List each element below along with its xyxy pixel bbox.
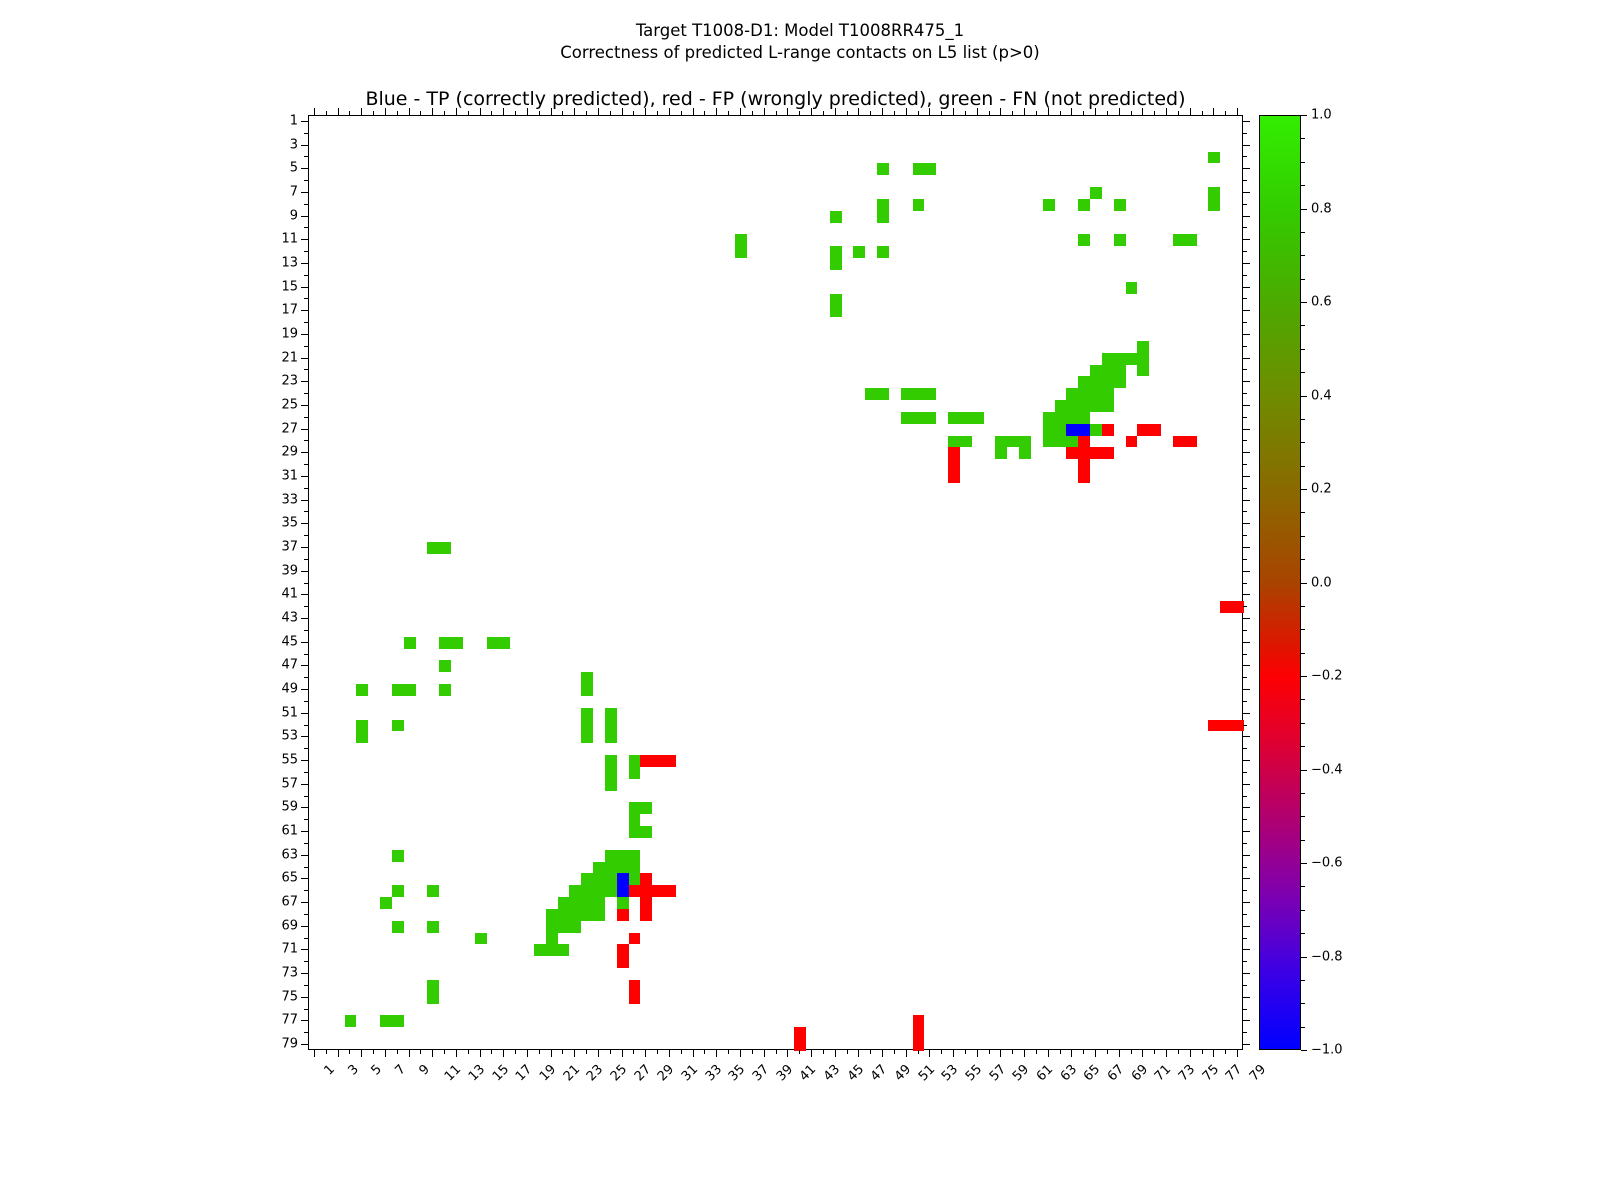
y-axis-tick-right: [1243, 665, 1250, 666]
colorbar-minor-tick: [1301, 840, 1305, 841]
y-axis-tick-right: [1243, 713, 1250, 714]
contact-cell-fp: [1102, 447, 1114, 459]
contact-cell-fn: [605, 708, 617, 720]
contact-cell-fn: [830, 258, 842, 270]
y-axis-tick-right: [1243, 476, 1250, 477]
x-axis-tick-top: [1095, 108, 1096, 115]
contact-cell-fn: [1090, 365, 1102, 377]
contact-cell-fn: [1102, 353, 1114, 365]
x-axis-tick-top: [326, 111, 327, 115]
y-axis-label: 65: [250, 871, 298, 886]
y-axis-label: 57: [250, 776, 298, 791]
contact-cell-fn: [427, 992, 439, 1004]
contact-cell-fp: [629, 980, 641, 992]
x-axis-tick-top: [385, 108, 386, 115]
x-axis-label: 35: [726, 1062, 748, 1084]
x-axis-tick: [953, 1050, 954, 1057]
contact-cell-fn: [1090, 187, 1102, 199]
y-axis-tick: [304, 227, 308, 228]
contact-cell-fn: [735, 234, 747, 246]
y-axis-label: 17: [250, 303, 298, 318]
x-axis-tick-top: [704, 111, 705, 115]
x-axis-tick-top: [657, 111, 658, 115]
x-axis-label: 41: [797, 1062, 819, 1084]
contact-cell-fn: [1019, 436, 1031, 448]
contact-cell-fp: [1090, 447, 1102, 459]
contact-cell-fn: [1078, 388, 1090, 400]
contact-cell-fn: [1090, 400, 1102, 412]
x-axis-label: 27: [631, 1062, 653, 1084]
contact-cell-fn: [995, 436, 1007, 448]
x-axis-tick: [704, 1050, 705, 1054]
x-axis-tick-top: [716, 108, 717, 115]
x-axis-tick-top: [1142, 108, 1143, 115]
y-axis-tick: [304, 369, 308, 370]
contact-cell-fn: [427, 542, 439, 554]
colorbar-tick-label: 0.6: [1311, 295, 1332, 310]
y-axis-tick: [304, 535, 308, 536]
y-axis-tick-right: [1243, 878, 1250, 879]
y-axis-tick-right: [1243, 511, 1247, 512]
y-axis-tick-right: [1243, 654, 1247, 655]
contact-cell-fn: [558, 897, 570, 909]
x-axis-tick: [764, 1050, 765, 1057]
contact-cell-fn: [960, 412, 972, 424]
y-axis-tick: [301, 1044, 308, 1045]
y-axis-tick: [301, 926, 308, 927]
x-axis-label: 75: [1200, 1062, 1222, 1084]
y-axis-tick: [304, 583, 308, 584]
contact-cell-fn: [617, 850, 629, 862]
contact-cell-fn: [877, 199, 889, 211]
y-axis-tick: [304, 440, 308, 441]
y-axis-tick: [301, 831, 308, 832]
x-axis-label: 11: [442, 1062, 464, 1084]
contact-cell-fn: [901, 388, 913, 400]
x-axis-tick-top: [693, 108, 694, 115]
y-axis-label: 31: [250, 468, 298, 483]
y-axis-tick-right: [1243, 310, 1250, 311]
contact-cell-fn: [1066, 412, 1078, 424]
x-axis-tick: [929, 1050, 930, 1057]
y-axis-label: 67: [250, 895, 298, 910]
x-axis-label: 25: [608, 1062, 630, 1084]
x-axis-tick-top: [787, 108, 788, 115]
x-axis-tick: [314, 1050, 315, 1057]
y-axis-tick: [301, 855, 308, 856]
contact-cell-fn: [830, 294, 842, 306]
colorbar-minor-tick: [1301, 933, 1305, 934]
contact-cell-fn: [345, 1015, 357, 1027]
contact-cell-fp: [1208, 720, 1220, 732]
colorbar-minor-tick: [1301, 466, 1305, 467]
contact-cell-fn: [1043, 436, 1055, 448]
y-axis-tick-right: [1243, 251, 1247, 252]
contact-cell-fn: [1078, 412, 1090, 424]
y-axis-tick: [304, 772, 308, 773]
contact-cell-fn: [427, 921, 439, 933]
contact-cell-fn: [877, 163, 889, 175]
x-axis-tick-top: [633, 111, 634, 115]
x-axis-label: 47: [868, 1062, 890, 1084]
x-axis-tick-top: [1107, 111, 1108, 115]
x-axis-tick-top: [728, 111, 729, 115]
x-axis-tick-top: [882, 108, 883, 115]
contact-cell-fn: [581, 684, 593, 696]
y-axis-tick: [301, 263, 308, 264]
contact-cell-fp: [640, 897, 652, 909]
x-axis-label: 55: [963, 1062, 985, 1084]
colorbar-minor-tick: [1301, 279, 1305, 280]
contact-cell-fn: [617, 862, 629, 874]
y-axis-label: 51: [250, 705, 298, 720]
x-axis-tick: [491, 1050, 492, 1054]
contact-cell-fn: [1055, 424, 1067, 436]
y-axis-tick: [304, 961, 308, 962]
contact-cell-fn: [356, 731, 368, 743]
y-axis-tick-right: [1243, 606, 1247, 607]
contact-cell-fn: [439, 637, 451, 649]
y-axis-tick-right: [1243, 890, 1247, 891]
y-axis-tick: [301, 689, 308, 690]
y-axis-tick-right: [1243, 239, 1250, 240]
y-axis-tick-right: [1243, 405, 1250, 406]
y-axis-tick-right: [1243, 736, 1250, 737]
contact-cell-fn: [1208, 199, 1220, 211]
colorbar-tick: [1301, 209, 1307, 210]
colorbar-minor-tick: [1301, 886, 1305, 887]
x-axis-tick: [1213, 1050, 1214, 1057]
contact-cell-fn: [392, 1015, 404, 1027]
contact-cell-fn: [995, 447, 1007, 459]
y-axis-tick: [301, 168, 308, 169]
colorbar-minor-tick: [1301, 699, 1305, 700]
x-axis-tick: [1060, 1050, 1061, 1054]
colorbar-tick-label: 0.4: [1311, 388, 1332, 403]
colorbar-minor-tick: [1301, 185, 1305, 186]
y-axis-tick-right: [1243, 1009, 1247, 1010]
x-axis-tick-top: [1213, 108, 1214, 115]
y-axis-tick-right: [1243, 689, 1250, 690]
contact-cell-fn: [877, 211, 889, 223]
contact-cell-fn: [581, 873, 593, 885]
colorbar-minor-tick: [1301, 349, 1305, 350]
contact-cell-fp: [640, 873, 652, 885]
x-axis-tick: [752, 1050, 753, 1054]
colorbar-minor-tick: [1301, 536, 1305, 537]
contact-cell-fn: [1090, 424, 1102, 436]
x-axis-tick: [858, 1050, 859, 1057]
y-axis-tick: [301, 713, 308, 714]
y-axis-tick-right: [1243, 369, 1247, 370]
contact-cell-fp: [1078, 447, 1090, 459]
y-axis-tick: [301, 571, 308, 572]
x-axis-tick: [728, 1050, 729, 1054]
y-axis-tick: [301, 949, 308, 950]
x-axis-tick-top: [1071, 108, 1072, 115]
y-axis-tick-right: [1243, 677, 1247, 678]
contact-cell-fp: [1232, 601, 1244, 613]
x-axis-tick: [373, 1050, 374, 1054]
contact-cell-fn: [629, 755, 641, 767]
contact-cell-fp: [1102, 424, 1114, 436]
x-axis-tick-top: [823, 111, 824, 115]
x-axis-tick: [338, 1050, 339, 1057]
contact-cell-fn: [593, 909, 605, 921]
y-axis-tick: [304, 275, 308, 276]
x-axis-tick: [1048, 1050, 1049, 1057]
y-axis-label: 37: [250, 539, 298, 554]
y-axis-tick: [304, 914, 308, 915]
y-axis-label: 53: [250, 729, 298, 744]
y-axis-tick: [304, 748, 308, 749]
y-axis-label: 79: [250, 1037, 298, 1052]
x-axis-tick-top: [432, 108, 433, 115]
x-axis-label: 51: [916, 1062, 938, 1084]
x-axis-tick: [539, 1050, 540, 1054]
y-axis-tick-right: [1243, 642, 1250, 643]
contact-cell-fn: [581, 897, 593, 909]
colorbar-minor-tick: [1301, 746, 1305, 747]
colorbar-minor-tick: [1301, 138, 1305, 139]
x-axis-tick-top: [953, 108, 954, 115]
y-axis-tick: [301, 760, 308, 761]
colorbar-minor-tick: [1301, 980, 1305, 981]
y-axis-tick-right: [1243, 523, 1250, 524]
y-axis-label: 41: [250, 587, 298, 602]
contact-cell-fn: [1114, 365, 1126, 377]
y-axis-tick: [301, 618, 308, 619]
x-axis-tick: [669, 1050, 670, 1057]
y-axis-label: 5: [250, 161, 298, 176]
legend-annotation-text: Blue - TP (correctly predicted), red - F…: [308, 88, 1243, 110]
y-axis-tick-right: [1243, 807, 1250, 808]
x-axis-label: 17: [513, 1062, 535, 1084]
y-axis-tick: [304, 559, 308, 560]
contact-cell-fn: [1090, 388, 1102, 400]
colorbar-minor-tick: [1301, 910, 1305, 911]
colorbar-minor-tick: [1301, 559, 1305, 560]
x-axis-tick: [906, 1050, 907, 1057]
y-axis-tick: [301, 192, 308, 193]
y-axis-tick: [304, 133, 308, 134]
contact-cell-fn: [605, 779, 617, 791]
contact-cell-fn: [960, 436, 972, 448]
y-axis-label: 55: [250, 753, 298, 768]
y-axis-label: 35: [250, 516, 298, 531]
y-axis-tick: [301, 429, 308, 430]
y-axis-tick: [301, 594, 308, 595]
y-axis-label: 69: [250, 918, 298, 933]
x-axis-tick-top: [740, 108, 741, 115]
colorbar-tick-label: 0.0: [1311, 575, 1332, 590]
y-axis-label: 71: [250, 942, 298, 957]
contact-map-plot[interactable]: [308, 115, 1243, 1050]
contact-cell-fn: [1066, 436, 1078, 448]
colorbar-tick: [1301, 863, 1307, 864]
x-axis-tick-top: [1202, 111, 1203, 115]
x-axis-label: 23: [584, 1062, 606, 1084]
y-axis-tick-right: [1243, 547, 1250, 548]
x-axis-label: 63: [1058, 1062, 1080, 1084]
figure-title-block: Target T1008-D1: Model T1008RR475_1 Corr…: [0, 20, 1600, 64]
y-axis-tick: [301, 736, 308, 737]
y-axis-tick: [304, 180, 308, 181]
contact-cell-fn: [629, 814, 641, 826]
y-axis-tick: [304, 677, 308, 678]
x-axis-tick-top: [918, 111, 919, 115]
y-axis-label: 63: [250, 847, 298, 862]
x-axis-tick-top: [1166, 108, 1167, 115]
colorbar-tick-label: 1.0: [1311, 108, 1332, 123]
x-axis-tick-top: [1225, 111, 1226, 115]
y-axis-label: 15: [250, 279, 298, 294]
contact-cell-fp: [1220, 720, 1232, 732]
x-axis-label: 31: [679, 1062, 701, 1084]
contact-cell-fp: [1220, 601, 1232, 613]
y-axis-tick: [304, 511, 308, 512]
contact-cell-fn: [593, 885, 605, 897]
x-axis-tick-top: [397, 111, 398, 115]
colorbar-tick-label: −0.2: [1311, 669, 1343, 684]
contact-cell-fn: [427, 980, 439, 992]
x-axis-label: 65: [1081, 1062, 1103, 1084]
contact-cell-fp: [794, 1039, 806, 1051]
x-axis-label: 59: [1010, 1062, 1032, 1084]
x-axis-tick: [503, 1050, 504, 1057]
y-axis-tick-right: [1243, 500, 1250, 501]
y-axis-tick-right: [1243, 725, 1247, 726]
x-axis-tick: [977, 1050, 978, 1057]
y-axis-tick: [301, 973, 308, 974]
y-axis-tick: [301, 381, 308, 382]
contact-cell-fn: [1078, 199, 1090, 211]
contact-cell-fn: [1043, 199, 1055, 211]
contact-cell-fn: [1043, 424, 1055, 436]
x-axis-tick-top: [1237, 108, 1238, 115]
contact-cell-fp: [629, 885, 641, 897]
colorbar-minor-tick: [1301, 489, 1305, 490]
x-axis-tick-top: [799, 111, 800, 115]
contact-cell-fn: [1078, 376, 1090, 388]
x-axis-tick: [1107, 1050, 1108, 1054]
contact-cell-fn: [1102, 388, 1114, 400]
x-axis-tick-top: [1036, 111, 1037, 115]
contact-cell-fn: [475, 933, 487, 945]
colorbar-minor-tick: [1301, 442, 1305, 443]
x-axis-label: 5: [369, 1062, 385, 1078]
y-axis-tick: [304, 322, 308, 323]
y-axis-tick-right: [1243, 701, 1247, 702]
y-axis-tick: [304, 819, 308, 820]
x-axis-label: 29: [655, 1062, 677, 1084]
contact-cell-fn: [1102, 376, 1114, 388]
y-axis-tick-right: [1243, 938, 1247, 939]
x-axis-tick-top: [551, 108, 552, 115]
contact-cell-fp: [629, 992, 641, 1004]
contact-cell-fp: [629, 933, 641, 945]
colorbar-minor-tick: [1301, 232, 1305, 233]
y-axis-tick-right: [1243, 393, 1247, 394]
x-axis-label: 79: [1247, 1062, 1269, 1084]
y-axis-tick: [304, 890, 308, 891]
x-axis-tick-top: [870, 111, 871, 115]
colorbar-minor-tick: [1301, 606, 1305, 607]
contact-cell-fn: [830, 211, 842, 223]
x-axis-tick: [1119, 1050, 1120, 1057]
colorbar-tick: [1301, 302, 1307, 303]
x-axis-label: 39: [774, 1062, 796, 1084]
contact-cell-fn: [546, 933, 558, 945]
contact-cell-fn: [1114, 353, 1126, 365]
contact-cell-fn: [1114, 376, 1126, 388]
contact-cell-fn: [569, 885, 581, 897]
x-axis-tick: [349, 1050, 350, 1054]
contact-cell-fn: [404, 684, 416, 696]
contact-cell-fn: [593, 862, 605, 874]
contact-cell-fn: [901, 412, 913, 424]
contact-cell-fn: [581, 909, 593, 921]
x-axis-tick: [787, 1050, 788, 1057]
x-axis-tick: [1024, 1050, 1025, 1057]
x-axis-tick-top: [835, 108, 836, 115]
contact-cell-fn: [1102, 400, 1114, 412]
x-axis-label: 43: [821, 1062, 843, 1084]
x-axis-tick: [847, 1050, 848, 1054]
contact-cell-fn: [605, 873, 617, 885]
x-axis-tick-top: [338, 108, 339, 115]
x-axis-tick-top: [989, 111, 990, 115]
y-axis-tick: [304, 630, 308, 631]
contact-cell-fn: [1066, 400, 1078, 412]
contact-cell-fn: [924, 163, 936, 175]
x-axis-tick-top: [503, 108, 504, 115]
contact-cell-tp: [1078, 424, 1090, 436]
y-axis-tick: [304, 1032, 308, 1033]
contact-cell-fn: [913, 199, 925, 211]
y-axis-tick-right: [1243, 985, 1247, 986]
contact-cell-fn: [1078, 234, 1090, 246]
x-axis-tick-top: [669, 108, 670, 115]
x-axis-tick: [515, 1050, 516, 1054]
x-axis-label: 77: [1223, 1062, 1245, 1084]
y-axis-label: 1: [250, 113, 298, 128]
contact-cell-fn: [605, 720, 617, 732]
contact-cell-fp: [1078, 436, 1090, 448]
y-axis-tick: [304, 298, 308, 299]
x-axis-tick: [633, 1050, 634, 1054]
colorbar-tick: [1301, 1050, 1307, 1051]
x-axis-label: 53: [939, 1062, 961, 1084]
x-axis-tick-top: [491, 111, 492, 115]
x-axis-tick-top: [598, 108, 599, 115]
x-axis-tick: [1190, 1050, 1191, 1057]
contact-cell-fn: [948, 412, 960, 424]
contact-cell-fp: [913, 1015, 925, 1027]
contact-cell-fn: [581, 731, 593, 743]
x-axis-tick: [480, 1050, 481, 1057]
contact-cell-fn: [735, 246, 747, 258]
contact-cell-fn: [558, 909, 570, 921]
figure-title-line-1: Target T1008-D1: Model T1008RR475_1: [0, 20, 1600, 42]
contact-cell-fn: [1090, 376, 1102, 388]
y-axis-tick-right: [1243, 417, 1247, 418]
x-axis-tick: [918, 1050, 919, 1054]
contact-cell-fn: [593, 873, 605, 885]
colorbar[interactable]: 1.00.80.60.40.20.0−0.2−0.4−0.6−0.8−1.0: [1259, 115, 1301, 1050]
x-axis-label: 57: [987, 1062, 1009, 1084]
contact-cell-fn: [569, 921, 581, 933]
